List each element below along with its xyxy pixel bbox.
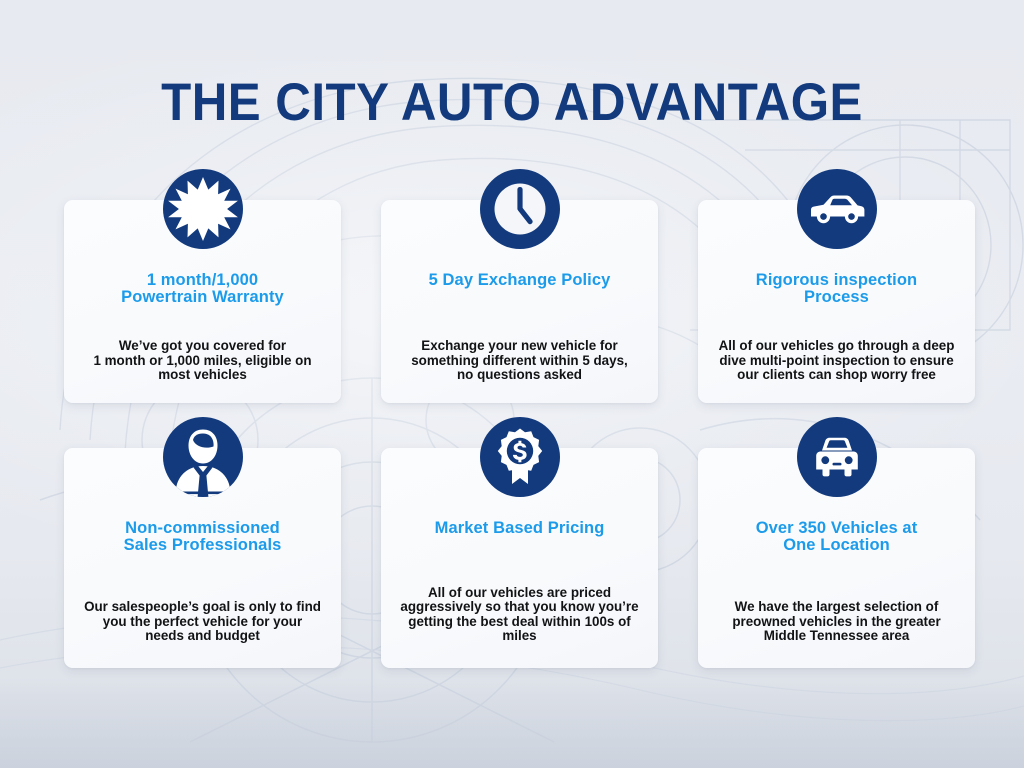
card-body-line1: Exchange your new vehicle for <box>391 339 648 354</box>
card-body-line3: no questions asked <box>391 368 648 383</box>
card-body-line3: getting the best deal within 100s of mil… <box>391 615 648 644</box>
advantage-card: 1 month/1,000 Powertrain Warranty We’ve … <box>64 200 341 403</box>
clock-icon <box>479 168 561 250</box>
page-title: THE CITY AUTO ADVANTAGE <box>36 72 988 133</box>
card-body-line1: All of our vehicles are priced <box>391 586 648 601</box>
card-heading-line2: Process <box>708 289 965 306</box>
card-heading-line1: Market Based Pricing <box>391 520 648 537</box>
card-body: All of our vehicles go through a deep di… <box>708 339 965 389</box>
card-body-line2: you the perfect vehicle for your <box>74 615 331 630</box>
card-body-line3: most vehicles <box>74 368 331 383</box>
card-body-line2: preowned vehicles in the greater <box>708 615 965 630</box>
card-heading-line2: One Location <box>708 537 965 554</box>
advantage-card-grid: 1 month/1,000 Powertrain Warranty We’ve … <box>64 200 978 668</box>
card-body: All of our vehicles are priced aggressiv… <box>391 586 648 654</box>
card-body-line2: aggressively so that you know you’re <box>391 600 648 615</box>
card-body-line3: Middle Tennessee area <box>708 629 965 644</box>
starburst-icon <box>162 168 244 250</box>
card-heading-line1: 1 month/1,000 <box>74 272 331 289</box>
car-front-icon <box>796 416 878 498</box>
car-side-icon <box>796 168 878 250</box>
background-bottom-band <box>0 678 1024 768</box>
card-heading-line1: Rigorous inspection <box>708 272 965 289</box>
card-body-line1: We have the largest selection of <box>708 600 965 615</box>
card-body-line3: needs and budget <box>74 629 331 644</box>
card-heading-line2: Powertrain Warranty <box>74 289 331 306</box>
advantage-card: Rigorous inspection Process All of our v… <box>698 200 975 403</box>
advantage-card: 5 Day Exchange Policy Exchange your new … <box>381 200 658 403</box>
card-heading: 1 month/1,000 Powertrain Warranty <box>74 272 331 306</box>
card-body: Our salespeople’s goal is only to find y… <box>74 600 331 654</box>
card-body-line1: We’ve got you covered for <box>74 339 331 354</box>
card-heading: Market Based Pricing <box>391 520 648 537</box>
card-body-line2: 1 month or 1,000 miles, eligible on <box>74 354 331 369</box>
card-heading-line2: Sales Professionals <box>74 537 331 554</box>
card-body-line2: something different within 5 days, <box>391 354 648 369</box>
advantage-card: Over 350 Vehicles at One Location We hav… <box>698 448 975 668</box>
infographic-canvas: THE CITY AUTO ADVANTAGE 1 month/1,000 Po… <box>0 0 1024 768</box>
card-heading-line1: Non-commissioned <box>74 520 331 537</box>
salesperson-icon <box>162 416 244 498</box>
card-body-line1: All of our vehicles go through a deep <box>708 339 965 354</box>
dollar-badge-icon <box>479 416 561 498</box>
card-body-line2: dive multi-point inspection to ensure <box>708 354 965 369</box>
card-heading-line1: 5 Day Exchange Policy <box>391 272 648 289</box>
card-body-line1: Our salespeople’s goal is only to find <box>74 600 331 615</box>
card-body: We have the largest selection of preowne… <box>708 600 965 654</box>
card-body: We’ve got you covered for 1 month or 1,0… <box>74 339 331 389</box>
advantage-card: Market Based Pricing All of our vehicles… <box>381 448 658 668</box>
card-heading: 5 Day Exchange Policy <box>391 272 648 289</box>
card-body: Exchange your new vehicle for something … <box>391 339 648 389</box>
card-heading: Over 350 Vehicles at One Location <box>708 520 965 554</box>
advantage-card: Non-commissioned Sales Professionals Our… <box>64 448 341 668</box>
card-heading-line1: Over 350 Vehicles at <box>708 520 965 537</box>
card-body-line3: our clients can shop worry free <box>708 368 965 383</box>
card-heading: Non-commissioned Sales Professionals <box>74 520 331 554</box>
card-heading: Rigorous inspection Process <box>708 272 965 306</box>
